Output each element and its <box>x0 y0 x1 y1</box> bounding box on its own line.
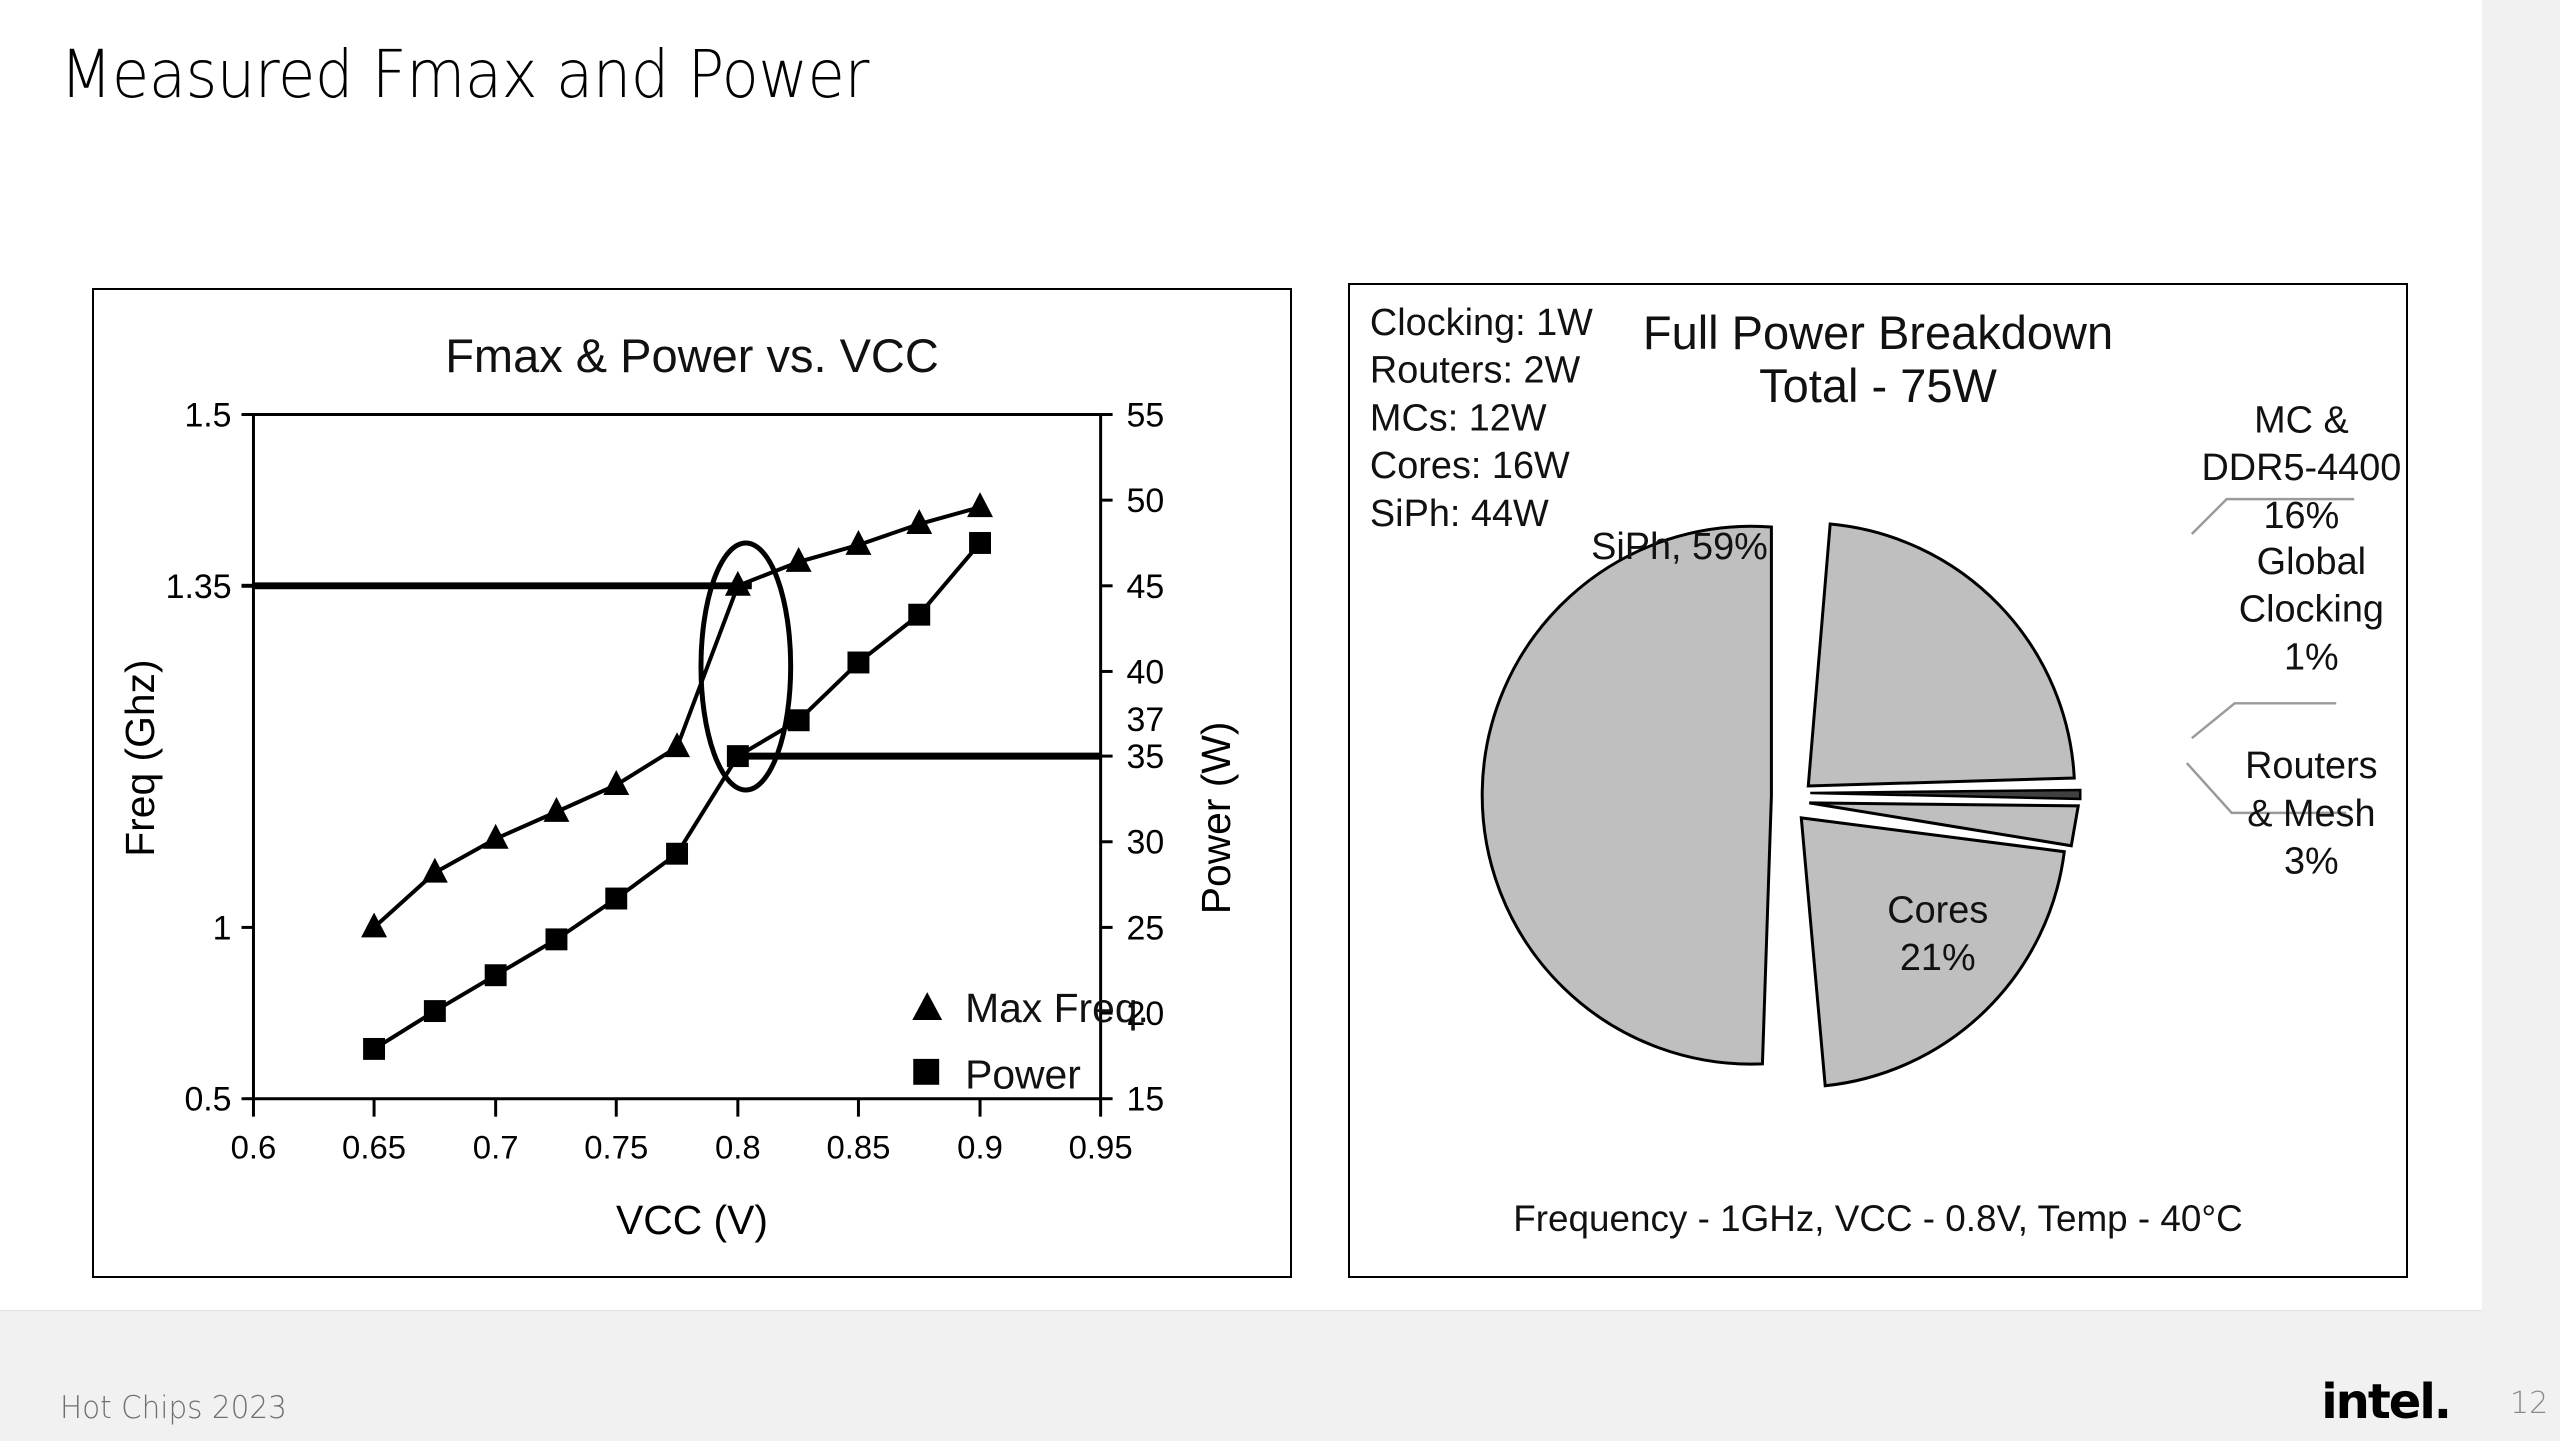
y-right-tick-label-7: 25 <box>1127 909 1165 947</box>
y-left-tick-label-3: 0.5 <box>184 1081 231 1119</box>
pie-label-mc-line1: MC & <box>2254 399 2349 441</box>
power-line <box>374 543 980 1049</box>
y-right-tick-label-3: 40 <box>1127 653 1165 691</box>
slide-footer <box>0 1310 2482 1441</box>
legend-triangle-marker <box>912 992 942 1020</box>
y-right-tick-label-6: 30 <box>1127 824 1165 862</box>
intel-logo: intel. <box>2321 1374 2450 1430</box>
line-chart-svg: 1.5 1.35 1 0.5 55 50 45 40 37 35 30 25 2… <box>94 290 1290 1276</box>
pie-label-routers-line3: 3% <box>2284 841 2339 883</box>
x-tick-label-4: 0.8 <box>715 1128 761 1165</box>
legend-label-power: Power <box>965 1052 1081 1098</box>
pie-legend-item-4: SiPh: 44W <box>1370 493 1549 535</box>
pie-legend-item-1: Routers: 2W <box>1370 350 1581 392</box>
y-left-tick-label-2: 1 <box>213 909 232 947</box>
pie-legend-item-0: Clocking: 1W <box>1370 302 1593 344</box>
pie-slice-siph[interactable] <box>1482 526 1771 1064</box>
legend-square-marker <box>913 1059 939 1085</box>
pie-label-mc-line2: DDR5-4400 <box>2201 447 2401 489</box>
y-right-tick-label-1: 50 <box>1127 482 1165 520</box>
y-right-tick-label-0: 55 <box>1127 396 1165 434</box>
y-left-tick-label-0: 1.5 <box>184 396 231 434</box>
pie-label-cores-line1: Cores <box>1887 889 1988 931</box>
line-chart-panel: Fmax & Power vs. VCC 1.5 1.35 1 0.5 <box>92 288 1292 1278</box>
pie-chart-footnote: Frequency - 1GHz, VCC - 0.8V, Temp - 40°… <box>1513 1198 2242 1239</box>
y-right-tick-label-4: 37 <box>1127 701 1165 739</box>
pie-label-mc-line3: 16% <box>2264 495 2340 537</box>
x-tick-label-0: 0.6 <box>231 1128 277 1165</box>
x-tick-label-5: 0.85 <box>826 1128 890 1165</box>
pie-chart-panel: Full Power Breakdown Total - 75W Clockin… <box>1348 283 2408 1278</box>
right-margin-strip <box>2482 0 2560 1440</box>
x-tick-label-2: 0.7 <box>473 1128 519 1165</box>
x-tick-label-1: 0.65 <box>342 1128 406 1165</box>
y-right-tick-label-9: 15 <box>1127 1081 1165 1119</box>
line-chart-legend: Max Freq. Power <box>912 985 1149 1098</box>
slide-canvas: Measured Fmax and Power Fmax & Power vs.… <box>0 0 2482 1440</box>
pie-label-cores-line2: 21% <box>1900 937 1976 979</box>
pie-label-clocking-line3: 1% <box>2284 636 2339 678</box>
pie-label-clocking-line2: Clocking <box>2239 589 2384 631</box>
x-tick-label-6: 0.9 <box>957 1128 1003 1165</box>
page-title: Measured Fmax and Power <box>60 36 869 113</box>
pie-chart-svg: Clocking: 1W Routers: 2W MCs: 12W Cores:… <box>1350 285 2406 1276</box>
pie-label-routers-line1: Routers <box>2245 745 2378 787</box>
pie-legend-item-3: Cores: 16W <box>1370 445 1570 487</box>
x-axis-title: VCC (V) <box>616 1197 768 1243</box>
pie-label-siph: SiPh, 59% <box>1591 526 1768 568</box>
pie-slice-mc-ddr5[interactable] <box>1808 524 2074 786</box>
pie-label-routers-line2: & Mesh <box>2247 793 2375 835</box>
pie-slice-global-clocking[interactable] <box>1810 790 2080 799</box>
y-axis-right-title: Power (W) <box>1193 721 1239 914</box>
leader-line-global-clocking <box>2192 703 2336 738</box>
x-tick-label-7: 0.95 <box>1069 1128 1133 1165</box>
y-right-tick-label-5: 35 <box>1127 738 1165 776</box>
pie-legend-item-2: MCs: 12W <box>1370 397 1547 439</box>
x-tick-label-3: 0.75 <box>584 1128 648 1165</box>
y-right-tick-label-2: 45 <box>1127 568 1165 606</box>
footer-event-label: Hot Chips 2023 <box>60 1390 287 1426</box>
pie-label-clocking-line1: Global <box>2257 541 2366 583</box>
power-markers <box>363 532 991 1060</box>
page-number: 12 <box>2510 1386 2548 1421</box>
legend-label-max-freq: Max Freq. <box>965 985 1149 1031</box>
y-axis-left-title: Freq (Ghz) <box>117 659 163 856</box>
y-left-tick-label-1: 1.35 <box>166 568 232 606</box>
pie-legend-list: Clocking: 1W Routers: 2W MCs: 12W Cores:… <box>1370 302 1593 535</box>
max-freq-markers <box>361 492 993 937</box>
